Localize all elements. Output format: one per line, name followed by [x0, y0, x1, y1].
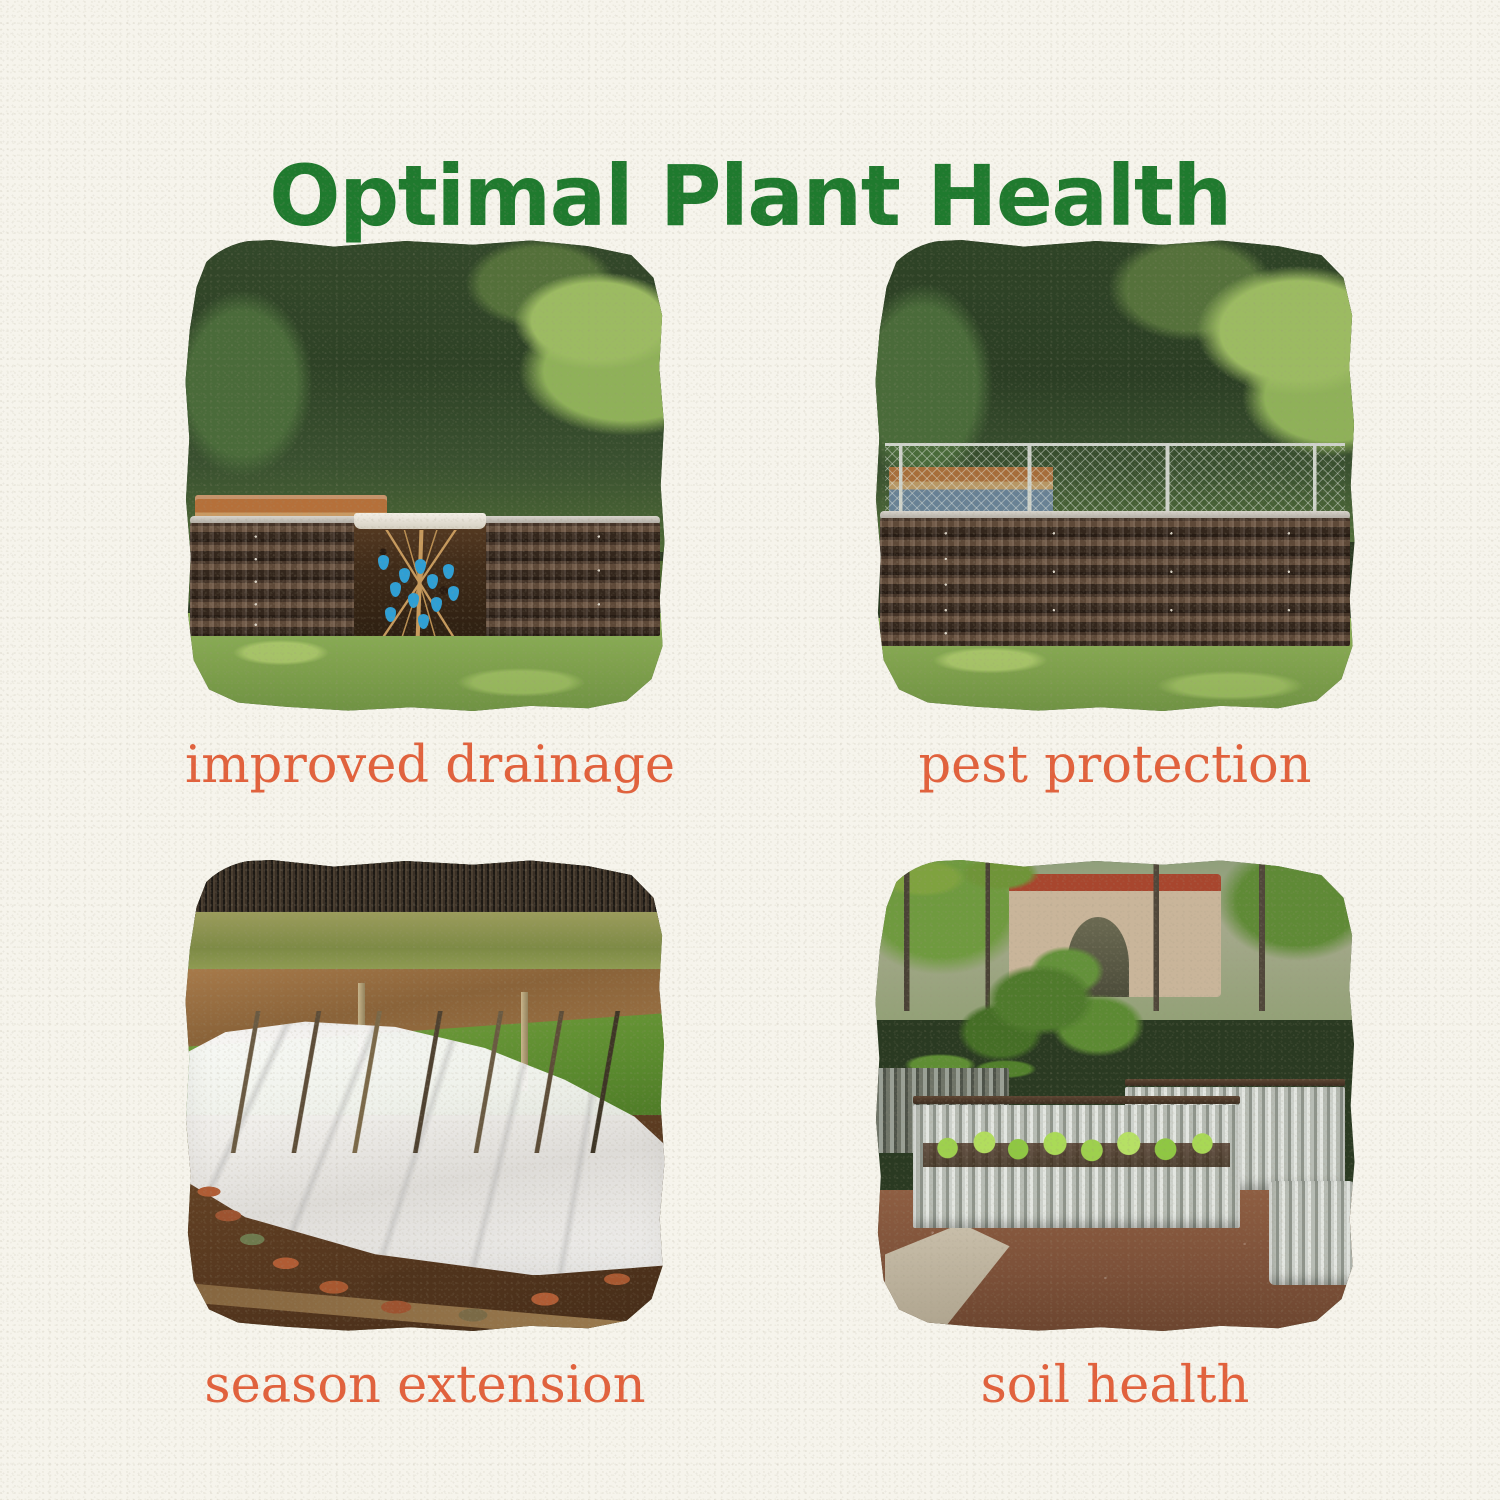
water-droplets — [354, 532, 486, 636]
lettuce-rows — [923, 1115, 1230, 1172]
bed-rim — [1125, 1079, 1346, 1086]
water-drop-icon — [408, 593, 419, 608]
water-drop-icon — [378, 555, 389, 570]
raised-garden-bed — [880, 518, 1350, 645]
caption-pest-protection: pest protection — [875, 738, 1355, 794]
photo-soil-health — [875, 860, 1355, 1332]
water-drop-icon — [415, 559, 426, 574]
feature-card-soil-health[interactable] — [875, 860, 1355, 1332]
photo-season-extension — [185, 860, 665, 1332]
water-drop-icon — [390, 582, 401, 597]
feature-grid: Optimal Plant Health — [0, 0, 1500, 1500]
caption-soil-health: soil health — [875, 1358, 1355, 1414]
raised-garden-bed — [190, 523, 660, 636]
photo-pest-protection — [875, 240, 1355, 712]
water-drop-icon — [399, 568, 410, 583]
water-drop-icon — [448, 586, 459, 601]
bed-screws — [880, 518, 1350, 645]
photo-improved-drainage — [185, 240, 665, 712]
feature-card-pest-protection[interactable] — [875, 240, 1355, 712]
water-drop-icon — [431, 597, 442, 612]
water-drop-icon — [418, 614, 429, 629]
water-drop-icon — [385, 607, 396, 622]
caption-improved-drainage: improved drainage — [185, 738, 665, 794]
page-title: Optimal Plant Health — [0, 148, 1500, 244]
bed-rim — [913, 1096, 1239, 1104]
cutaway-lip — [354, 513, 486, 529]
water-drop-icon — [443, 564, 454, 579]
galvanized-bed-round — [1269, 1181, 1355, 1285]
water-drop-icon — [427, 574, 438, 589]
caption-season-extension: season extension — [185, 1358, 665, 1414]
feature-card-season-extension[interactable] — [185, 860, 665, 1332]
anchor-bricks — [185, 1124, 665, 1322]
feature-card-improved-drainage[interactable] — [185, 240, 665, 712]
